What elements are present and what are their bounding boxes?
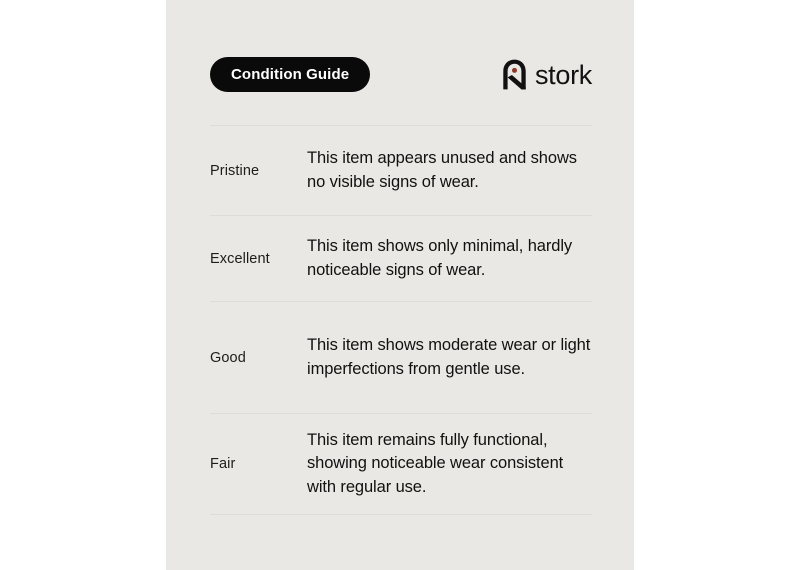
table-row: Pristine This item appears unused and sh… <box>210 125 592 215</box>
condition-label: Fair <box>210 456 307 472</box>
condition-guide-card: Condition Guide stork Pristine This item… <box>166 0 634 570</box>
condition-guide-badge[interactable]: Condition Guide <box>210 57 370 92</box>
condition-label: Good <box>210 350 307 366</box>
table-row: Good This item shows moderate wear or li… <box>210 301 592 413</box>
condition-label: Pristine <box>210 163 307 179</box>
condition-description: This item remains fully functional, show… <box>307 429 592 499</box>
condition-description: This item shows only minimal, hardly not… <box>307 235 592 282</box>
stork-arch-logo-icon <box>501 58 528 91</box>
card-header: Condition Guide stork <box>210 56 592 92</box>
condition-label: Excellent <box>210 251 307 267</box>
brand-wordmark: stork <box>535 62 592 89</box>
page-root: Condition Guide stork Pristine This item… <box>0 0 800 570</box>
condition-guide-table: Pristine This item appears unused and sh… <box>210 125 592 515</box>
table-row: Excellent This item shows only minimal, … <box>210 215 592 301</box>
condition-description: This item appears unused and shows no vi… <box>307 147 592 194</box>
brand-lockup: stork <box>501 56 592 92</box>
table-row: Fair This item remains fully functional,… <box>210 413 592 515</box>
condition-description: This item shows moderate wear or light i… <box>307 334 592 381</box>
